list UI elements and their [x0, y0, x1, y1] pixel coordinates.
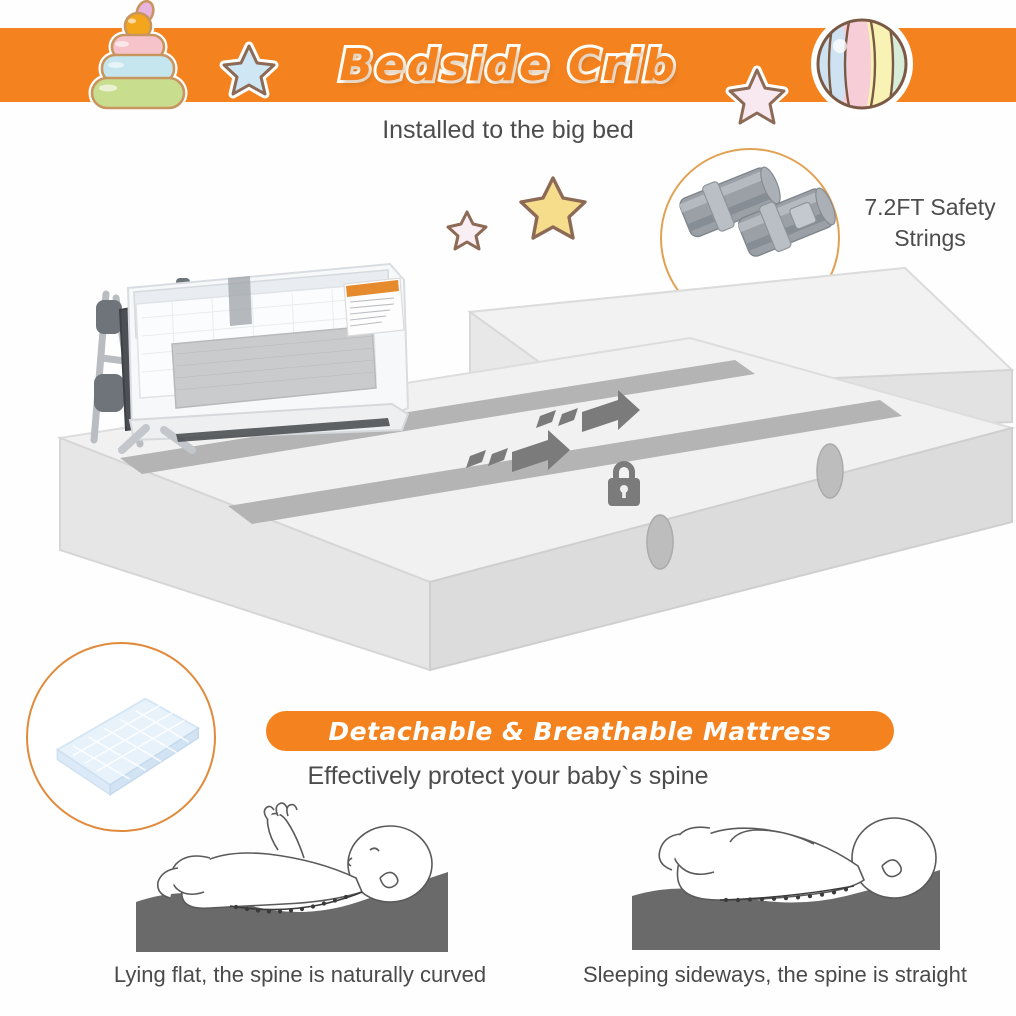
- page-title: Bedside Crib: [0, 28, 1016, 102]
- infographic-page: Bedside Crib Installed to the big bed: [0, 0, 1016, 1016]
- baby-sleeping-sideways-illustration: [618, 800, 978, 956]
- bedside-crib-photo: [72, 258, 442, 448]
- mattress-subtitle: Effectively protect your baby`s spine: [0, 762, 1016, 791]
- safety-strings-label-line1: 7.2FT Safety: [846, 192, 1014, 223]
- mattress-pad-photo: [28, 644, 210, 826]
- spine-caption-right: Sleeping sideways, the spine is straight: [540, 962, 1010, 988]
- spine-caption-left: Lying flat, the spine is naturally curve…: [40, 962, 560, 988]
- mattress-circle: [26, 642, 216, 832]
- page-title-text: Bedside Crib: [339, 40, 676, 91]
- mattress-banner-text: Detachable & Breathable Mattress: [328, 717, 831, 746]
- warning-label-tag: [344, 278, 404, 336]
- star-large-yellow-icon: [520, 176, 586, 240]
- baby-lying-flat-illustration: [118, 806, 498, 956]
- star-small-pink-icon: [446, 210, 488, 250]
- header-subtitle: Installed to the big bed: [0, 116, 1016, 145]
- mattress-banner: Detachable & Breathable Mattress: [266, 711, 894, 751]
- safety-strings-label: 7.2FT Safety Strings: [846, 192, 1014, 254]
